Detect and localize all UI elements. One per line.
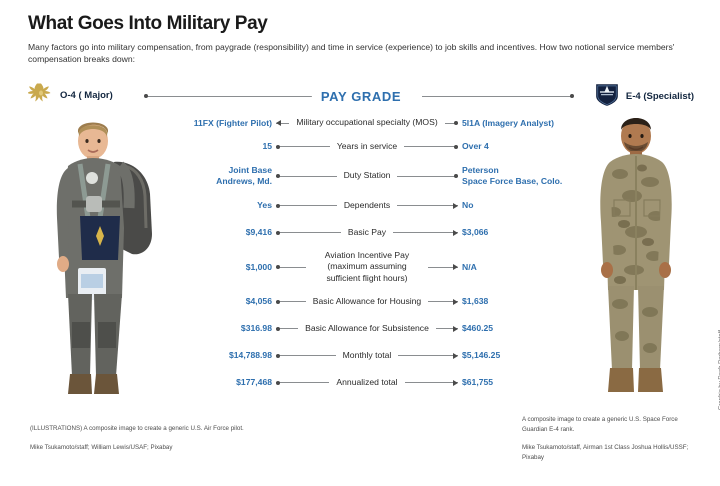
connector-dot bbox=[276, 381, 280, 385]
row-middle: Basic Allowance for Housing bbox=[272, 296, 462, 307]
row-left-value-line1: Joint Base bbox=[150, 165, 272, 176]
connector-dot bbox=[276, 354, 280, 358]
row-label: Basic Allowance for Housing bbox=[306, 296, 428, 307]
pay-grade-right-rank: E-4 (Specialist) bbox=[626, 91, 694, 102]
connector-dot bbox=[276, 300, 280, 304]
right-caption-description: A composite image to create a generic U.… bbox=[522, 415, 702, 434]
row-middle: Duty Station bbox=[272, 170, 462, 181]
row-left-value: Yes bbox=[150, 200, 272, 211]
arrow-right-icon bbox=[453, 264, 458, 270]
connector-dot bbox=[276, 231, 280, 235]
pay-grade-left-rank: O-4 ( Major) bbox=[60, 90, 113, 101]
left-caption-credit: Mike Tsukamoto/staff; William Lewis/USAF… bbox=[30, 443, 245, 453]
pay-grade-dot-right bbox=[570, 94, 574, 98]
row-right-value: $1,638 bbox=[462, 296, 590, 307]
row-label: Aviation Incentive Pay (maximum assuming… bbox=[306, 250, 428, 284]
row-middle: Basic Pay bbox=[272, 227, 462, 238]
row-left-value: $9,416 bbox=[150, 227, 272, 238]
pay-grade-title: PAY GRADE bbox=[312, 89, 410, 104]
right-photo-caption: A composite image to create a generic U.… bbox=[522, 415, 702, 462]
row-right-value: $5,146.25 bbox=[462, 350, 590, 361]
row-right-value: $61,755 bbox=[462, 377, 590, 388]
row-middle: Annualized total bbox=[272, 377, 462, 388]
arrow-right-icon bbox=[453, 299, 458, 305]
row-label: Dependents bbox=[337, 200, 397, 211]
pay-grade-line-right bbox=[422, 96, 572, 97]
arrow-right-icon bbox=[453, 203, 458, 209]
row-label: Military occupational specialty (MOS) bbox=[289, 117, 444, 128]
row-right-value-line2: Space Force Base, Colo. bbox=[462, 176, 590, 187]
page-title: What Goes Into Military Pay bbox=[28, 14, 694, 35]
row-middle: Aviation Incentive Pay (maximum assuming… bbox=[272, 250, 462, 284]
row-label: Annualized total bbox=[329, 377, 404, 388]
connector-dot bbox=[276, 174, 280, 178]
row-middle: Monthly total bbox=[272, 350, 462, 361]
connector-dot bbox=[454, 121, 458, 125]
infographic-page: What Goes Into Military Pay Many factors… bbox=[0, 0, 720, 486]
oak-leaf-insignia-icon bbox=[28, 82, 54, 109]
row-right-value-line1: Peterson bbox=[462, 165, 590, 176]
row-label: Duty Station bbox=[337, 170, 398, 181]
row-right-value: No bbox=[462, 200, 590, 211]
table-row: Joint Base Andrews, Md. Duty Station Pet… bbox=[150, 160, 590, 192]
row-right-value: $3,066 bbox=[462, 227, 590, 238]
row-left-value: $4,056 bbox=[150, 296, 272, 307]
table-row: $14,788.98 Monthly total $5,146.25 bbox=[150, 342, 590, 369]
table-row: 11FX (Fighter Pilot) Military occupation… bbox=[150, 113, 590, 133]
row-left-value: Joint Base Andrews, Md. bbox=[150, 165, 272, 186]
pay-grade-dot-left bbox=[144, 94, 148, 98]
connector-dot bbox=[276, 145, 280, 149]
table-row: $316.98 Basic Allowance for Subsistence … bbox=[150, 315, 590, 342]
connector-dot bbox=[276, 327, 280, 331]
row-middle: Military occupational specialty (MOS) bbox=[272, 117, 462, 128]
row-left-value: 11FX (Fighter Pilot) bbox=[150, 118, 272, 129]
space-force-guardian-photo bbox=[576, 104, 696, 404]
table-row: $4,056 Basic Allowance for Housing $1,63… bbox=[150, 288, 590, 315]
row-right-value: 5I1A (Imagery Analyst) bbox=[462, 118, 590, 129]
pay-grade-line-left bbox=[146, 96, 334, 97]
row-left-value: $177,468 bbox=[150, 377, 272, 388]
table-row: 15 Years in service Over 4 bbox=[150, 133, 590, 160]
arrow-left-icon bbox=[276, 120, 281, 126]
left-photo-caption: (ILLUSTRATIONS) A composite image to cre… bbox=[30, 424, 245, 452]
header: What Goes Into Military Pay Many factors… bbox=[28, 14, 694, 66]
arrow-right-icon bbox=[453, 380, 458, 386]
pay-grade-left-group: O-4 ( Major) bbox=[28, 82, 113, 109]
row-label: Basic Pay bbox=[341, 227, 393, 238]
row-right-value: N/A bbox=[462, 262, 590, 273]
row-label: Basic Allowance for Subsistence bbox=[298, 323, 436, 334]
page-description: Many factors go into military compensati… bbox=[28, 41, 683, 66]
connector-dot bbox=[276, 204, 280, 208]
connector-dot bbox=[276, 265, 280, 269]
row-middle: Years in service bbox=[272, 141, 462, 152]
row-middle: Basic Allowance for Subsistence bbox=[272, 323, 462, 334]
arrow-right-icon bbox=[453, 230, 458, 236]
row-right-value: $460.25 bbox=[462, 323, 590, 334]
right-caption-credit: Mike Tsukamoto/staff, Airman 1st Class J… bbox=[522, 443, 702, 462]
comparison-rows: 11FX (Fighter Pilot) Military occupation… bbox=[150, 113, 590, 396]
row-left-value: 15 bbox=[150, 141, 272, 152]
row-label: Monthly total bbox=[336, 350, 399, 361]
row-middle: Dependents bbox=[272, 200, 462, 211]
connector-dot bbox=[454, 145, 458, 149]
row-left-value-line2: Andrews, Md. bbox=[150, 176, 272, 187]
air-force-pilot-photo bbox=[28, 108, 166, 408]
arrow-right-icon bbox=[453, 353, 458, 359]
row-label: Years in service bbox=[330, 141, 404, 152]
table-row: Yes Dependents No bbox=[150, 192, 590, 219]
table-row: $177,468 Annualized total $61,755 bbox=[150, 369, 590, 396]
row-right-value: Peterson Space Force Base, Colo. bbox=[462, 165, 590, 186]
table-row: $1,000 Aviation Incentive Pay (maximum a… bbox=[150, 246, 590, 288]
table-row: $9,416 Basic Pay $3,066 bbox=[150, 219, 590, 246]
row-left-value: $1,000 bbox=[150, 262, 272, 273]
row-right-value: Over 4 bbox=[462, 141, 590, 152]
connector-dot bbox=[454, 174, 458, 178]
left-caption-description: (ILLUSTRATIONS) A composite image to cre… bbox=[30, 424, 245, 434]
arrow-right-icon bbox=[453, 326, 458, 332]
row-left-value: $14,788.98 bbox=[150, 350, 272, 361]
row-left-value: $316.98 bbox=[150, 323, 272, 334]
